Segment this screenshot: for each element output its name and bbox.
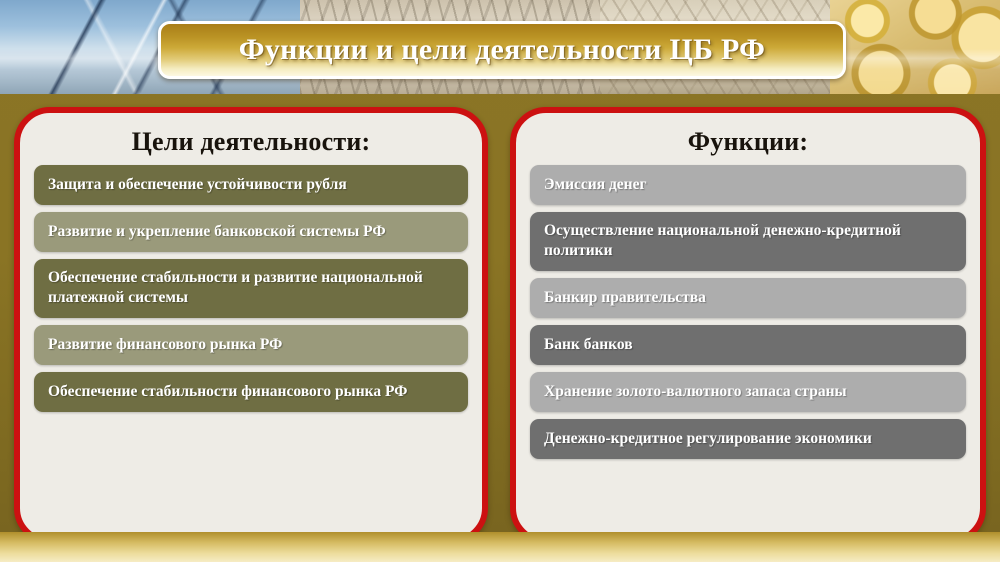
list-item[interactable]: Обеспечение стабильности финансового рын…	[34, 372, 468, 412]
list-item[interactable]: Защита и обеспечение устойчивости рубля	[34, 165, 468, 205]
slide-title-bar: Функции и цели деятельности ЦБ РФ	[158, 21, 846, 79]
list-item[interactable]: Денежно-кредитное регулирование экономик…	[530, 419, 966, 459]
slide-title: Функции и цели деятельности ЦБ РФ	[239, 33, 765, 67]
list-item[interactable]: Развитие и укрепление банковской системы…	[34, 212, 468, 252]
list-item[interactable]: Хранение золото-валютного запаса страны	[530, 372, 966, 412]
list-item[interactable]: Развитие финансового рынка РФ	[34, 325, 468, 365]
slide-root: Функции и цели деятельности ЦБ РФ Цели д…	[0, 0, 1000, 562]
list-item[interactable]: Банкир правительства	[530, 278, 966, 318]
list-item[interactable]: Осуществление национальной денежно-креди…	[530, 212, 966, 271]
panel-functions: Функции: Эмиссия денег Осуществление нац…	[510, 107, 986, 544]
list-item[interactable]: Эмиссия денег	[530, 165, 966, 205]
panel-goals-item-list: Защита и обеспечение устойчивости рубля …	[20, 165, 482, 412]
list-item[interactable]: Банк банков	[530, 325, 966, 365]
list-item[interactable]: Обеспечение стабильности и развитие наци…	[34, 259, 468, 318]
footer-gold-strip	[0, 532, 1000, 562]
panel-goals-header: Цели деятельности:	[20, 127, 482, 157]
gold-coins-photo	[830, 0, 1000, 94]
panel-goals: Цели деятельности: Защита и обеспечение …	[14, 107, 488, 544]
panel-functions-header: Функции:	[516, 127, 980, 157]
panel-functions-item-list: Эмиссия денег Осуществление национальной…	[516, 165, 980, 459]
